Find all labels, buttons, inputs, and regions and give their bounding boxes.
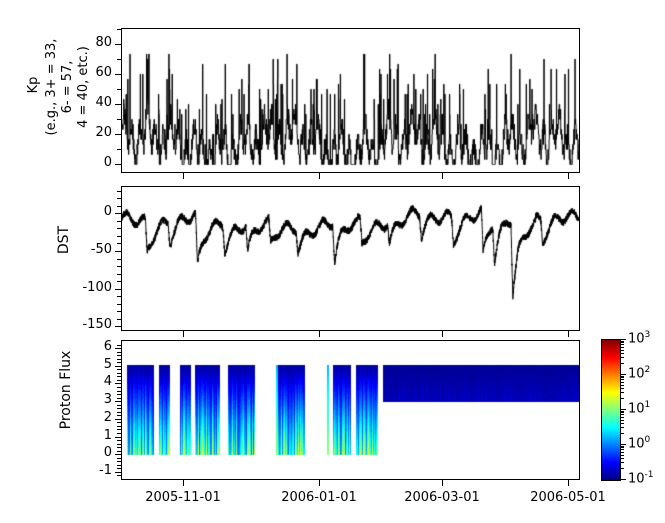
axis-tick [620, 379, 624, 380]
axis-tick [117, 221, 121, 222]
axis-tick [620, 447, 624, 448]
axis-tick [319, 173, 320, 179]
axis-tick [568, 173, 569, 179]
axis-tick [620, 392, 624, 393]
colorbar-tick-exponent: 0 [645, 435, 651, 445]
axis-tick [117, 206, 121, 207]
axis-tick [183, 173, 184, 179]
axis-tick [117, 228, 121, 229]
colorbar-tick-mantissa: 10 [628, 401, 645, 416]
colorbar-tick-mantissa: 10 [628, 436, 645, 451]
axis-tick [620, 417, 624, 418]
axis-tick [117, 394, 121, 395]
colorbar-tick-exponent: 3 [645, 330, 651, 340]
axis-tick [319, 331, 320, 337]
axis-tick [620, 344, 624, 345]
kp-axis-label: Kp [26, 10, 41, 160]
axis-tick [117, 266, 121, 267]
axis-tick [117, 359, 121, 360]
kp-axis-label-line2: (e.g., 3+ = 33, [44, 2, 60, 172]
axis-tick [115, 383, 121, 384]
axis-tick [620, 452, 624, 453]
axis-tick [117, 119, 121, 120]
dst-ytick-label: -100 [82, 280, 112, 295]
proton-flux-ytick-label: -1 [99, 463, 112, 478]
colorbar-tick-exponent: -1 [645, 470, 654, 480]
axis-tick [117, 369, 121, 370]
axis-tick [620, 388, 624, 389]
axis-tick [568, 331, 569, 337]
axis-tick [620, 350, 624, 351]
axis-tick [115, 437, 121, 438]
xtick-label: 2006-05-01 [508, 490, 628, 505]
axis-tick [620, 374, 626, 375]
axis-tick [620, 479, 626, 480]
kp-ytick-label: 80 [95, 35, 112, 50]
axis-tick [117, 461, 121, 462]
proton-flux-ytick-label: 6 [104, 339, 112, 354]
axis-tick [620, 468, 624, 469]
axis-tick [620, 341, 624, 342]
axis-tick [183, 480, 184, 486]
axis-tick [115, 44, 121, 45]
axis-tick [117, 352, 121, 353]
axis-tick [620, 446, 624, 447]
axis-tick [117, 355, 121, 356]
axis-tick [620, 458, 624, 459]
proton-flux-ytick-label: 0 [104, 445, 112, 460]
axis-tick [117, 447, 121, 448]
dst-ytick-label: 0 [104, 204, 112, 219]
colorbar-tick-label: 10-1 [628, 470, 654, 486]
axis-tick [620, 411, 624, 412]
axis-tick [117, 475, 121, 476]
kp-axis-label-sub: (e.g., 3+ = 33, 6- = 57, 4 = 40, etc.) [44, 2, 92, 172]
proton-flux-ytick-label: 1 [104, 428, 112, 443]
dst-axis-label: DST [56, 190, 72, 290]
axis-tick [620, 462, 624, 463]
axis-tick [620, 449, 624, 450]
axis-tick [117, 408, 121, 409]
colorbar-tick-label: 100 [628, 435, 650, 451]
colorbar-tick-exponent: 2 [645, 365, 651, 375]
axis-tick [117, 191, 121, 192]
axis-tick [620, 342, 624, 343]
axis-tick [117, 149, 121, 150]
axis-tick [117, 422, 121, 423]
axis-tick [117, 415, 121, 416]
axis-tick [442, 480, 443, 486]
colorbar-tick-exponent: 1 [645, 400, 651, 410]
axis-tick [319, 480, 320, 486]
proton-flux-ytick-label: 3 [104, 392, 112, 407]
kp-series-plot [122, 29, 579, 172]
proton-flux-ytick-label: 2 [104, 410, 112, 425]
axis-tick [115, 326, 121, 327]
axis-tick [115, 472, 121, 473]
dst-axis-label-text: DST [56, 226, 72, 254]
axis-tick [442, 331, 443, 337]
axis-tick [117, 412, 121, 413]
axis-tick [117, 243, 121, 244]
proton-flux-spectrogram [122, 341, 579, 479]
axis-tick [115, 104, 121, 105]
colorbar-tick-label: 102 [628, 365, 650, 381]
axis-tick [620, 377, 624, 378]
axis-tick [117, 198, 121, 199]
axis-tick [117, 89, 121, 90]
axis-tick [620, 412, 624, 413]
axis-tick [117, 376, 121, 377]
dst-series-plot [122, 187, 579, 330]
kp-axis-label-line1: Kp [26, 10, 41, 160]
kp-ytick-label: 60 [95, 65, 112, 80]
axis-tick [620, 347, 624, 348]
axis-tick [620, 409, 626, 410]
proton-flux-axis-label: Proton Flux [58, 315, 74, 465]
dst-ytick-label: -150 [82, 317, 112, 332]
figure-canvas: Kp (e.g., 3+ = 33, 6- = 57, 4 = 40, etc.… [0, 0, 665, 523]
axis-tick [117, 274, 121, 275]
axis-tick [117, 405, 121, 406]
colorbar-tick-mantissa: 10 [628, 331, 645, 346]
axis-tick [117, 458, 121, 459]
axis-tick [117, 444, 121, 445]
proton-flux-ytick-label: 4 [104, 374, 112, 389]
axis-tick [117, 59, 121, 60]
axis-tick [115, 289, 121, 290]
colorbar-tick-mantissa: 10 [628, 471, 645, 486]
axis-tick [115, 134, 121, 135]
axis-tick [117, 319, 121, 320]
axis-tick [620, 427, 624, 428]
kp-ytick-label: 0 [104, 155, 112, 170]
axis-tick [117, 391, 121, 392]
axis-tick [117, 345, 121, 346]
axis-tick [117, 440, 121, 441]
xtick-label: 2006-03-01 [382, 490, 502, 505]
axis-tick [620, 339, 626, 340]
axis-tick [442, 173, 443, 179]
dst-ytick-label: -50 [91, 242, 112, 257]
axis-tick [620, 423, 624, 424]
axis-tick [117, 29, 121, 30]
axis-tick [115, 213, 121, 214]
axis-tick [620, 357, 624, 358]
proton-flux-axis-label-text: Proton Flux [58, 351, 74, 430]
axis-tick [117, 433, 121, 434]
colorbar-tick-mantissa: 10 [628, 366, 645, 381]
axis-tick [117, 451, 121, 452]
axis-tick [117, 426, 121, 427]
colorbar-gradient [601, 339, 621, 481]
axis-tick [117, 362, 121, 363]
axis-tick [115, 419, 121, 420]
axis-tick [620, 455, 624, 456]
axis-tick [117, 304, 121, 305]
axis-tick [620, 444, 626, 445]
proton-flux-ytick-label: 5 [104, 357, 112, 372]
axis-tick [620, 376, 624, 377]
axis-tick [117, 398, 121, 399]
xtick-label: 2006-01-01 [259, 490, 379, 505]
axis-tick [117, 387, 121, 388]
axis-tick [620, 363, 624, 364]
kp-axis-label-line3: 6- = 57, [60, 2, 76, 172]
axis-tick [115, 164, 121, 165]
axis-tick [620, 385, 624, 386]
axis-tick [117, 281, 121, 282]
axis-tick [117, 468, 121, 469]
axis-tick [115, 454, 121, 455]
axis-tick [620, 398, 624, 399]
kp-ytick-label: 20 [95, 125, 112, 140]
axis-tick [115, 401, 121, 402]
axis-tick [117, 311, 121, 312]
colorbar-tick-label: 103 [628, 330, 650, 346]
axis-tick [117, 429, 121, 430]
kp-ytick-label: 40 [95, 95, 112, 110]
axis-tick [117, 465, 121, 466]
axis-tick [115, 348, 121, 349]
axis-tick [620, 433, 624, 434]
axis-tick [117, 380, 121, 381]
axis-tick [117, 236, 121, 237]
axis-tick [115, 251, 121, 252]
kp-axis-label-line4: 4 = 40, etc.) [76, 2, 92, 172]
axis-tick [620, 353, 624, 354]
axis-tick [117, 373, 121, 374]
axis-tick [183, 331, 184, 337]
axis-tick [115, 366, 121, 367]
axis-tick [620, 414, 624, 415]
axis-tick [117, 259, 121, 260]
axis-tick [115, 74, 121, 75]
axis-tick [117, 296, 121, 297]
axis-tick [568, 480, 569, 486]
xtick-label: 2005-11-01 [123, 490, 243, 505]
axis-tick [620, 420, 624, 421]
colorbar-tick-label: 101 [628, 400, 650, 416]
axis-tick [620, 382, 624, 383]
